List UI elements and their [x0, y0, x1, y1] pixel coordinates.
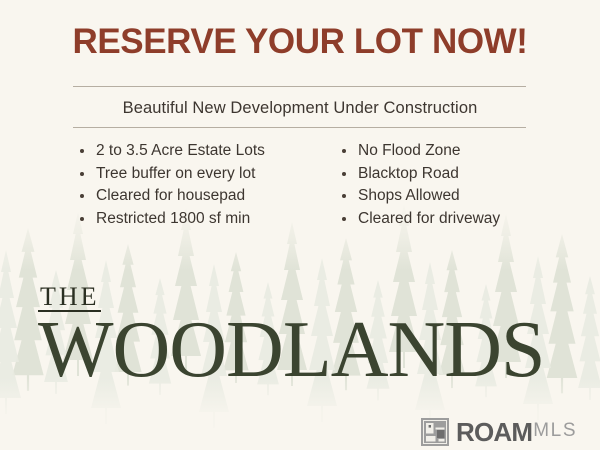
list-item: Tree buffer on every lot — [78, 163, 328, 186]
feature-column-right: No Flood Zone Blacktop Road Shops Allowe… — [340, 140, 580, 230]
feature-label: Cleared for driveway — [358, 210, 500, 227]
brand-name-secondary: MLS — [533, 417, 577, 446]
list-item: Shops Allowed — [340, 185, 580, 208]
brand-name-primary: ROAM — [456, 418, 532, 446]
list-item: Restricted 1800 sf min — [78, 208, 328, 231]
bullet-dot-icon — [342, 194, 346, 198]
feature-list: 2 to 3.5 Acre Estate Lots Tree buffer on… — [0, 140, 600, 230]
list-item: No Flood Zone — [340, 140, 580, 163]
feature-label: Blacktop Road — [358, 165, 459, 182]
feature-label: No Flood Zone — [358, 142, 461, 159]
feature-label: Tree buffer on every lot — [96, 165, 255, 182]
development-wordmark: THE WOODLANDS — [38, 283, 578, 391]
divider-top — [73, 86, 526, 87]
property-flyer: RESERVE YOUR LOT NOW! Beautiful New Deve… — [0, 0, 600, 450]
bullet-dot-icon — [80, 194, 84, 198]
bullet-dot-icon — [342, 217, 346, 221]
feature-label: Cleared for housepad — [96, 187, 245, 204]
roam-house-icon — [421, 418, 449, 446]
roam-mls-logo: ROAM MLS — [421, 417, 577, 446]
list-item: 2 to 3.5 Acre Estate Lots — [78, 140, 328, 163]
wordmark-name: WOODLANDS — [38, 309, 578, 391]
divider-bottom — [73, 127, 526, 128]
list-item: Blacktop Road — [340, 163, 580, 186]
bullet-dot-icon — [80, 172, 84, 176]
feature-label: Restricted 1800 sf min — [96, 210, 250, 227]
bullet-dot-icon — [80, 217, 84, 221]
bullet-dot-icon — [342, 149, 346, 153]
bullet-dot-icon — [80, 149, 84, 153]
feature-column-left: 2 to 3.5 Acre Estate Lots Tree buffer on… — [78, 140, 328, 230]
page-title: RESERVE YOUR LOT NOW! — [0, 22, 600, 62]
feature-label: Shops Allowed — [358, 187, 460, 204]
feature-label: 2 to 3.5 Acre Estate Lots — [96, 142, 265, 159]
bullet-dot-icon — [342, 172, 346, 176]
subtitle: Beautiful New Development Under Construc… — [0, 95, 600, 121]
list-item: Cleared for driveway — [340, 208, 580, 231]
list-item: Cleared for housepad — [78, 185, 328, 208]
